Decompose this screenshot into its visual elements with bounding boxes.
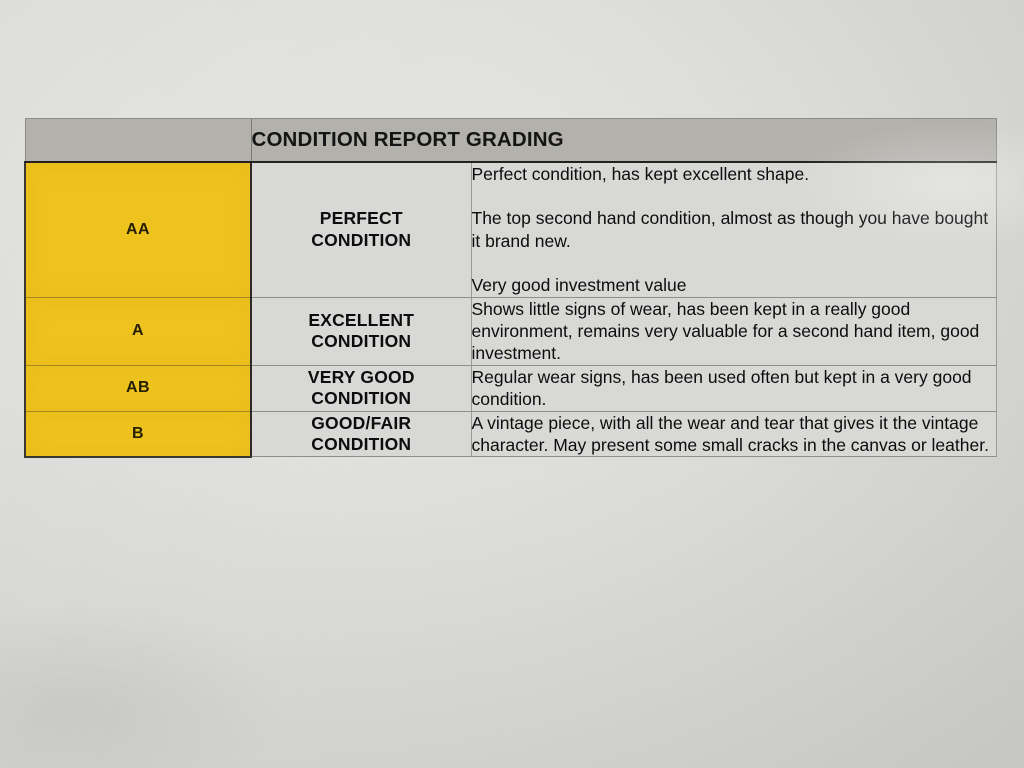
description-paragraph: The top second hand condition, almost as… <box>472 207 996 252</box>
table-title: CONDITION REPORT GRADING <box>251 119 996 163</box>
condition-label-ab: VERY GOOD CONDITION <box>251 365 471 411</box>
condition-label-line-1: EXCELLENT <box>252 310 471 331</box>
header-spacer-cell <box>25 119 251 163</box>
condition-label-b: GOOD/FAIR CONDITION <box>251 411 471 457</box>
description-paragraph: Regular wear signs, has been used often … <box>472 366 996 411</box>
description-paragraph: Shows little signs of wear, has been kep… <box>472 298 996 365</box>
condition-label-line-1: VERY GOOD <box>252 367 471 388</box>
table-row: A EXCELLENT CONDITION Shows little signs… <box>25 297 996 365</box>
condition-description-aa: Perfect condition, has kept excellent sh… <box>471 162 996 297</box>
condition-description-ab: Regular wear signs, has been used often … <box>471 365 996 411</box>
description-paragraph: A vintage piece, with all the wear and t… <box>472 412 996 457</box>
condition-description-a: Shows little signs of wear, has been kep… <box>471 297 996 365</box>
grade-code-a: A <box>25 297 251 365</box>
table-row: AA PERFECT CONDITION Perfect condition, … <box>25 162 996 297</box>
description-paragraph: Very good investment value <box>472 274 996 296</box>
condition-label-aa: PERFECT CONDITION <box>251 162 471 297</box>
condition-label-a: EXCELLENT CONDITION <box>251 297 471 365</box>
condition-description-b: A vintage piece, with all the wear and t… <box>471 411 996 457</box>
paper-sheet: CONDITION REPORT GRADING AA PERFECT COND… <box>0 0 1024 768</box>
table-row: AB VERY GOOD CONDITION Regular wear sign… <box>25 365 996 411</box>
condition-label-line-2: CONDITION <box>252 230 471 251</box>
table-row: B GOOD/FAIR CONDITION A vintage piece, w… <box>25 411 996 457</box>
grade-code-aa: AA <box>25 162 251 297</box>
condition-label-line-2: CONDITION <box>252 331 471 352</box>
table-body: AA PERFECT CONDITION Perfect condition, … <box>25 162 996 457</box>
table-header: CONDITION REPORT GRADING <box>25 119 996 163</box>
grade-code-b: B <box>25 411 251 457</box>
condition-label-line-1: PERFECT <box>252 208 471 229</box>
condition-label-line-2: CONDITION <box>252 388 471 409</box>
description-paragraph: Perfect condition, has kept excellent sh… <box>472 163 996 185</box>
condition-label-line-2: CONDITION <box>252 434 471 455</box>
header-row: CONDITION REPORT GRADING <box>25 119 996 163</box>
grade-code-ab: AB <box>25 365 251 411</box>
condition-label-line-1: GOOD/FAIR <box>252 413 471 434</box>
condition-report-grading-table: CONDITION REPORT GRADING AA PERFECT COND… <box>24 118 997 458</box>
